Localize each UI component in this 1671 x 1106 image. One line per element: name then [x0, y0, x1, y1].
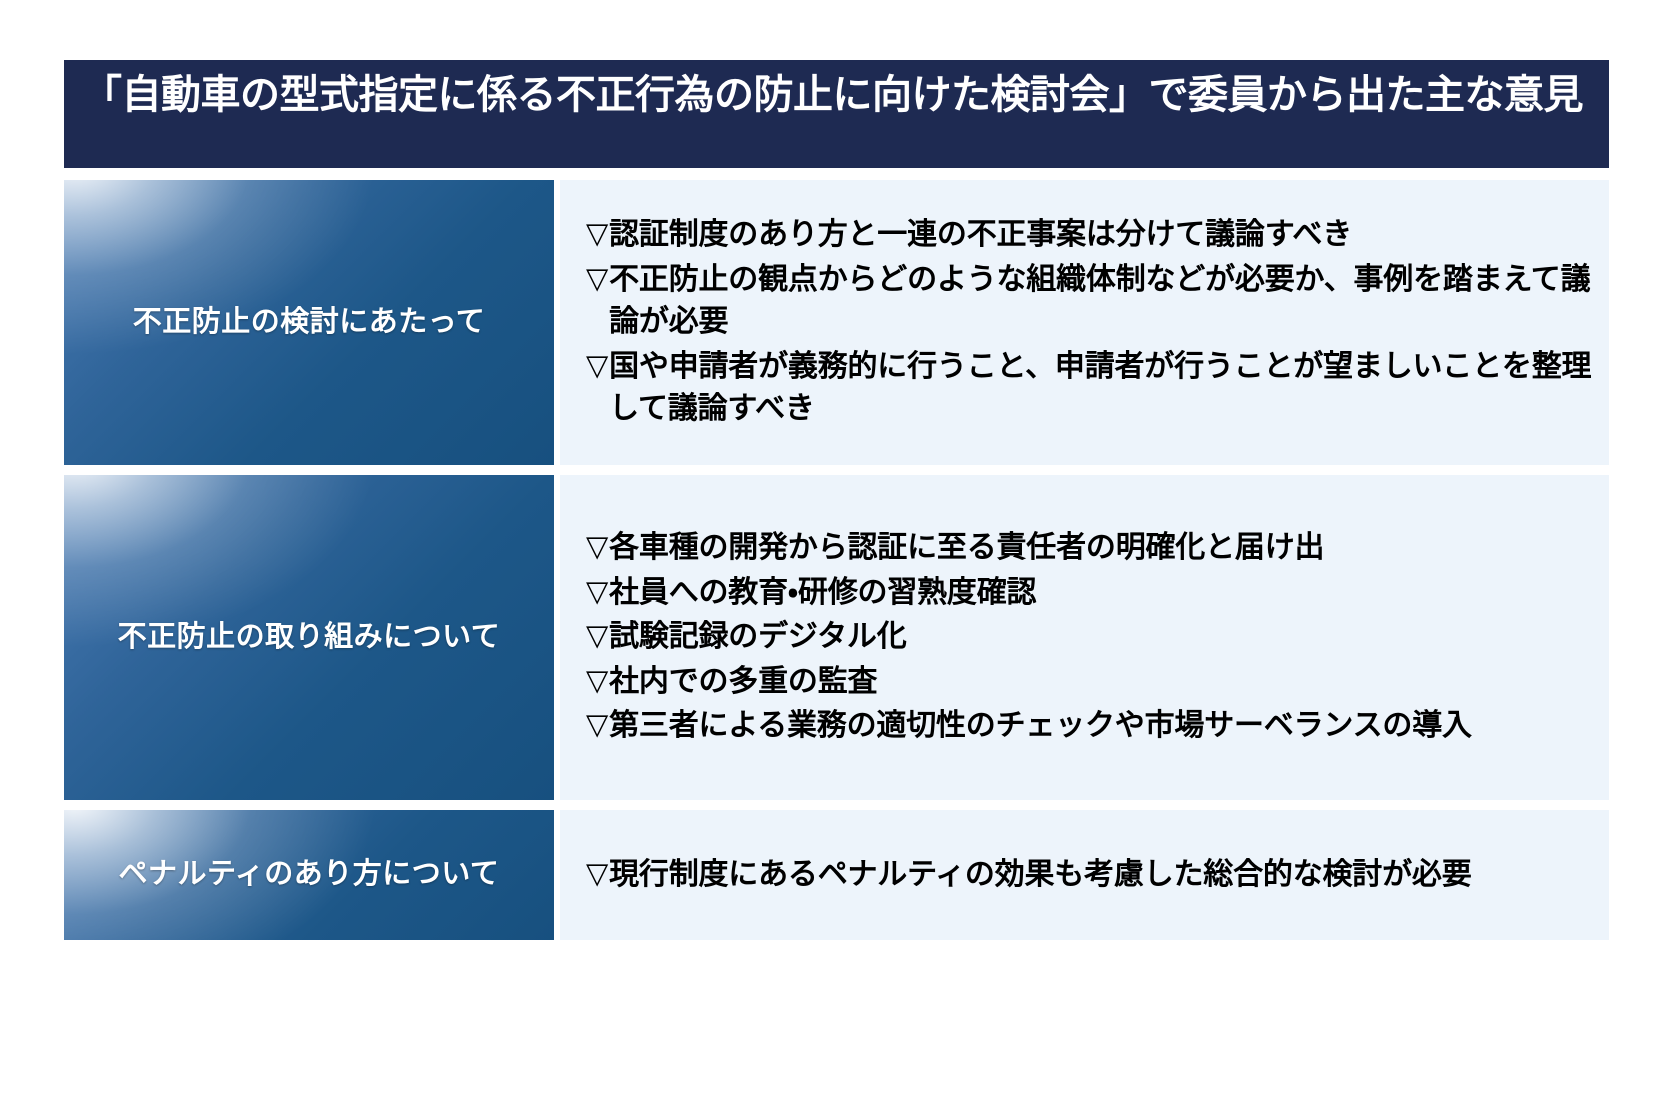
list-item: ▽ 不正防止の観点からどのような組織体制などが必要か、事例を踏まえて議論が必要	[586, 259, 1595, 344]
row-category-label: 不正防止の検討にあたって	[133, 304, 486, 342]
opinions-table: 不正防止の検討にあたって ▽ 認証制度のあり方と一連の不正事案は分けて議論すべき…	[64, 180, 1609, 940]
list-item: ▽ 社内での多重の監査	[586, 661, 1595, 704]
list-item-text: 不正防止の観点からどのような組織体制などが必要か、事例を踏まえて議論が必要	[609, 259, 1595, 344]
table-row: ペナルティのあり方について ▽ 現行制度にあるペナルティの効果も考慮した総合的な…	[64, 810, 1609, 940]
table-row: 不正防止の取り組みについて ▽ 各車種の開発から認証に至る責任者の明確化と届け出…	[64, 475, 1609, 800]
triangle-down-icon: ▽	[586, 259, 608, 300]
row-category-label: 不正防止の取り組みについて	[118, 619, 501, 657]
list-item: ▽ 各車種の開発から認証に至る責任者の明確化と届け出	[586, 527, 1595, 570]
table-row: 不正防止の検討にあたって ▽ 認証制度のあり方と一連の不正事案は分けて議論すべき…	[64, 180, 1609, 465]
list-item: ▽ 現行制度にあるペナルティの効果も考慮した総合的な検討が必要	[586, 854, 1595, 897]
list-item-text: 国や申請者が義務的に行うこと、申請者が行うことが望ましいことを整理して議論すべき	[609, 346, 1595, 431]
triangle-down-icon: ▽	[586, 661, 608, 702]
list-item-text: 第三者による業務の適切性のチェックや市場サーベランスの導入	[609, 705, 1595, 748]
triangle-down-icon: ▽	[586, 854, 608, 895]
list-item-text: 社員への教育・研修の習熟度確認	[609, 572, 1595, 615]
slide-root: 「自動車の型式指定に係る不正行為の防止に向けた検討会」で委員から出た主な意見 不…	[0, 0, 1671, 1106]
list-item: ▽ 国や申請者が義務的に行うこと、申請者が行うことが望ましいことを整理して議論す…	[586, 346, 1595, 431]
list-item-text: 現行制度にあるペナルティの効果も考慮した総合的な検討が必要	[609, 854, 1595, 897]
row-content-cell: ▽ 各車種の開発から認証に至る責任者の明確化と届け出 ▽ 社員への教育・研修の習…	[554, 475, 1609, 800]
triangle-down-icon: ▽	[586, 527, 608, 568]
list-item: ▽ 試験記録のデジタル化	[586, 616, 1595, 659]
triangle-down-icon: ▽	[586, 346, 608, 387]
list-item: ▽ 社員への教育・研修の習熟度確認	[586, 572, 1595, 615]
triangle-down-icon: ▽	[586, 616, 608, 657]
list-item: ▽ 認証制度のあり方と一連の不正事案は分けて議論すべき	[586, 214, 1595, 257]
row-category-cell: ペナルティのあり方について	[64, 810, 554, 940]
list-item-text: 試験記録のデジタル化	[609, 616, 1595, 659]
list-item: ▽ 第三者による業務の適切性のチェックや市場サーベランスの導入	[586, 705, 1595, 748]
page-title: 「自動車の型式指定に係る不正行為の防止に向けた検討会」で委員から出た主な意見	[82, 70, 1583, 120]
row-category-cell: 不正防止の検討にあたって	[64, 180, 554, 465]
row-content-cell: ▽ 現行制度にあるペナルティの効果も考慮した総合的な検討が必要	[554, 810, 1609, 940]
list-item-text: 社内での多重の監査	[609, 661, 1595, 704]
title-banner: 「自動車の型式指定に係る不正行為の防止に向けた検討会」で委員から出た主な意見	[64, 60, 1609, 168]
triangle-down-icon: ▽	[586, 214, 608, 255]
triangle-down-icon: ▽	[586, 705, 608, 746]
row-content-cell: ▽ 認証制度のあり方と一連の不正事案は分けて議論すべき ▽ 不正防止の観点からど…	[554, 180, 1609, 465]
row-category-label: ペナルティのあり方について	[119, 856, 500, 894]
list-item-text: 認証制度のあり方と一連の不正事案は分けて議論すべき	[609, 214, 1595, 257]
list-item-text: 各車種の開発から認証に至る責任者の明確化と届け出	[609, 527, 1595, 570]
row-category-cell: 不正防止の取り組みについて	[64, 475, 554, 800]
triangle-down-icon: ▽	[586, 572, 608, 613]
